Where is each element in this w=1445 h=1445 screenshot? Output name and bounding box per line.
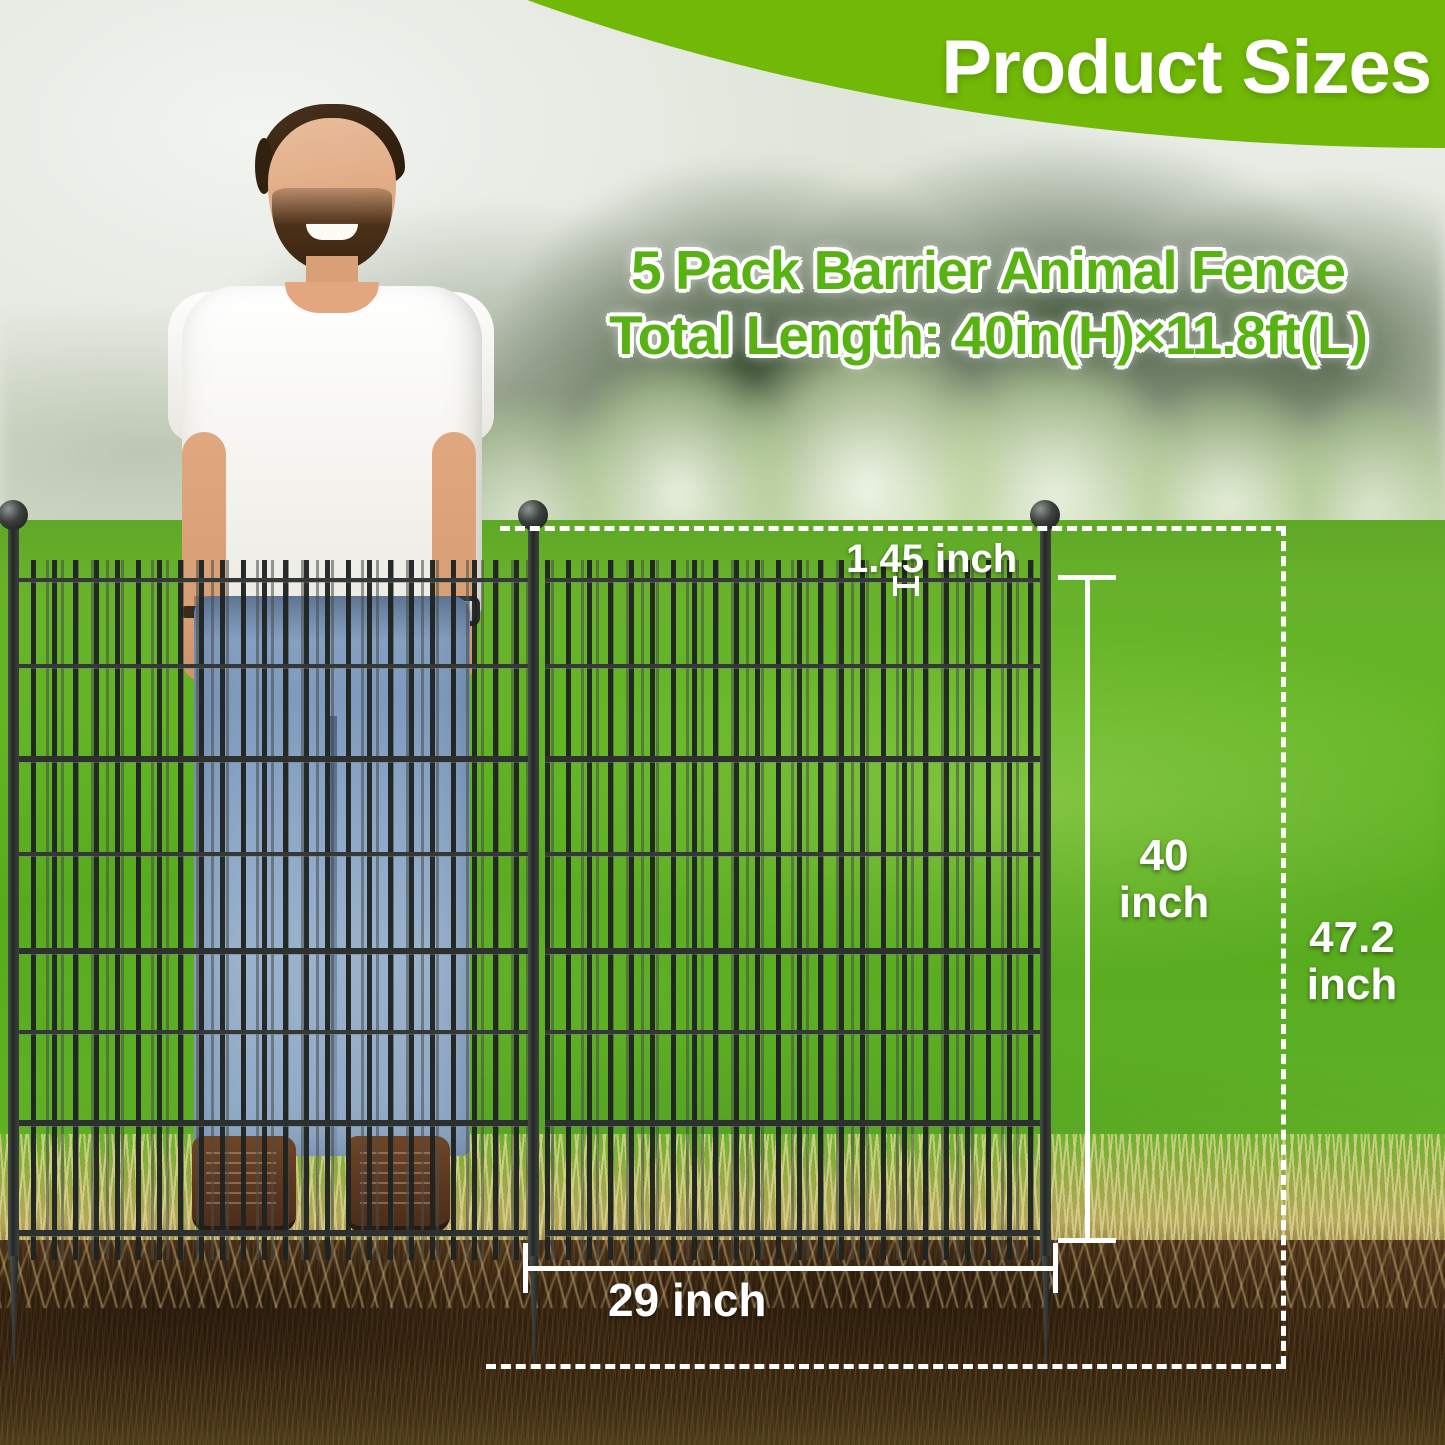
dimension-cap-top	[1058, 575, 1116, 580]
fence-rail	[545, 852, 1050, 856]
label-panel-width: 29 inch	[608, 1276, 767, 1325]
label-total-height: 47.2 inch	[1292, 915, 1412, 1008]
fence-rail-bottom	[10, 1230, 530, 1236]
label-panel-height: 40 inch	[1110, 833, 1218, 926]
product-size-infographic: 1.45 inch 40 inch 47.2 inch 29 inch 5 Pa…	[0, 0, 1445, 1445]
fence-rail	[545, 1030, 1050, 1034]
dimension-tick-right	[1053, 1243, 1058, 1293]
fence-panel-left	[10, 560, 530, 1260]
fence-rail	[545, 948, 1050, 954]
label-total-height-unit: inch	[1292, 962, 1412, 1009]
fence-rail-top	[10, 578, 530, 582]
label-bar-spacing: 1.45 inch	[846, 538, 1017, 580]
fence-rail	[545, 756, 1050, 762]
dimension-tick-left	[523, 1243, 528, 1293]
fence-rail	[10, 948, 530, 954]
label-total-height-value: 47.2	[1292, 915, 1412, 962]
fence-rail	[10, 664, 530, 668]
fence-rail	[545, 1120, 1050, 1126]
fence-assembly	[0, 560, 1060, 1260]
fence-post	[528, 516, 539, 1260]
dimension-line-panel-height	[1085, 575, 1090, 1243]
dimension-line-total-height	[1281, 526, 1286, 1366]
fence-post	[1040, 516, 1051, 1260]
label-panel-height-unit: inch	[1110, 880, 1218, 927]
dimension-line-top	[500, 526, 1286, 531]
fence-rail	[545, 664, 1050, 668]
product-headline: 5 Pack Barrier Animal Fence Total Length…	[540, 238, 1436, 368]
smile	[306, 224, 358, 240]
fence-post	[8, 516, 19, 1260]
fence-rail-bottom	[545, 1230, 1050, 1236]
headline-line-1: 5 Pack Barrier Animal Fence	[540, 238, 1436, 303]
fence-rail	[10, 852, 530, 856]
fence-panel-right	[545, 560, 1050, 1260]
page-title: Product Sizes	[941, 24, 1431, 111]
fence-rail	[10, 756, 530, 762]
label-panel-height-value: 40	[1110, 833, 1218, 880]
fence-rail	[10, 1030, 530, 1034]
dimension-cap-bottom	[1058, 1238, 1116, 1243]
headline-line-2: Total Length: 40in(H)×11.8ft(L)	[540, 303, 1436, 368]
dimension-line-bottom	[486, 1364, 1286, 1369]
dimension-line-panel-width	[523, 1266, 1058, 1271]
fence-rail	[10, 1120, 530, 1126]
